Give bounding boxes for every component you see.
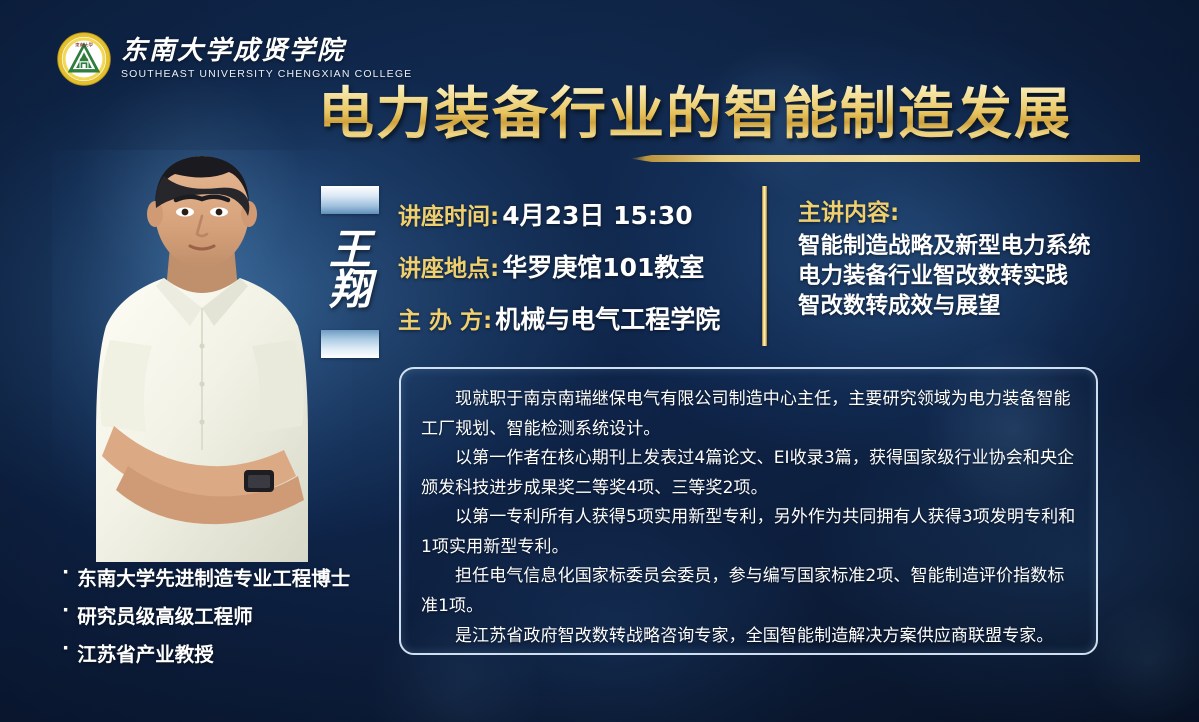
lecture-info-list: 讲座时间: 4月23日 15:30 讲座地点: 华罗庚馆101教室 主 办 方:… [398,196,748,352]
bio-paragraph: 是江苏省政府智改数转战略咨询专家，全国智能制造解决方案供应商联盟专家。 [421,622,1076,652]
info-row-time: 讲座时间: 4月23日 15:30 [398,196,748,232]
bio-paragraph: 以第一专利所有人获得5项实用新型专利，另外作为共同拥有人获得3项发明专利和1项实… [421,503,1076,562]
university-logo: 東南大學 东南大学成贤学院 SOUTHEAST UNIVERSITY CHENG… [56,31,412,87]
speaker-credentials-list: · 东南大学先进制造专业工程博士 · 研究员级高级工程师 · 江苏省产业教授 [62,562,392,676]
credential-item: · 研究员级高级工程师 [62,600,392,629]
gold-vertical-divider [762,186,767,346]
info-value-location: 华罗庚馆101教室 [502,248,704,284]
credential-label: 东南大学先进制造专业工程博士 [77,562,350,591]
topic-item: 智能制造战略及新型电力系统 [798,232,1158,262]
info-value-organizer: 机械与电气工程学院 [495,300,720,336]
credential-item: · 东南大学先进制造专业工程博士 [62,562,392,591]
topic-item: 电力装备行业智改数转实践 [798,262,1158,292]
credential-label: 研究员级高级工程师 [77,600,253,629]
speaker-name-block: 王 翔 [321,186,379,358]
lecture-poster: 東南大學 东南大学成贤学院 SOUTHEAST UNIVERSITY CHENG… [0,0,1199,722]
info-label-organizer: 主 办 方: [398,301,492,335]
topic-item: 智改数转成效与展望 [798,292,1158,322]
logo-english-name: SOUTHEAST UNIVERSITY CHENGXIAN COLLEGE [121,69,412,80]
speaker-portrait [52,150,352,562]
bio-paragraph: 担任电气信息化国家标委员会委员，参与编写国家标准2项、智能制造评价指数标准1项。 [421,562,1076,621]
info-label-time: 讲座时间: [398,197,499,231]
topics-heading: 主讲内容: [798,193,1158,227]
bullet-dot-icon: · [62,600,69,621]
info-value-time: 4月23日 15:30 [502,196,692,232]
university-seal-emblem: 東南大學 [56,31,112,87]
bio-paragraph: 以第一作者在核心期刊上发表过4篇论文、EI收录3篇，获得国家级行业协会和央企颁发… [421,444,1076,503]
speaker-name-vertical: 王 翔 [321,216,379,328]
speaker-bio-panel: 现就职于南京南瑞继保电气有限公司制造中心主任，主要研究领域为电力装备智能工厂规划… [399,367,1098,655]
logo-chinese-name: 东南大学成贤学院 [121,38,412,64]
credential-item: · 江苏省产业教授 [62,638,392,667]
bullet-dot-icon: · [62,562,69,583]
info-row-organizer: 主 办 方: 机械与电气工程学院 [398,300,748,336]
speaker-name-char-2: 翔 [329,272,371,312]
info-row-location: 讲座地点: 华罗庚馆101教室 [398,248,748,284]
name-decor-bar-top [321,186,379,214]
bio-paragraph: 现就职于南京南瑞继保电气有限公司制造中心主任，主要研究领域为电力装备智能工厂规划… [421,385,1076,444]
name-decor-bar-bottom [321,330,379,358]
poster-title: 电力装备行业的智能制造发展 [318,84,1174,146]
title-underline-accent [630,155,1140,162]
logo-text-group: 东南大学成贤学院 SOUTHEAST UNIVERSITY CHENGXIAN … [121,38,412,80]
credential-label: 江苏省产业教授 [77,638,214,667]
lecture-topics: 主讲内容: 智能制造战略及新型电力系统 电力装备行业智改数转实践 智改数转成效与… [798,193,1158,322]
info-label-location: 讲座地点: [398,249,499,283]
bullet-dot-icon: · [62,638,69,659]
speaker-name-char-1: 王 [329,232,371,272]
